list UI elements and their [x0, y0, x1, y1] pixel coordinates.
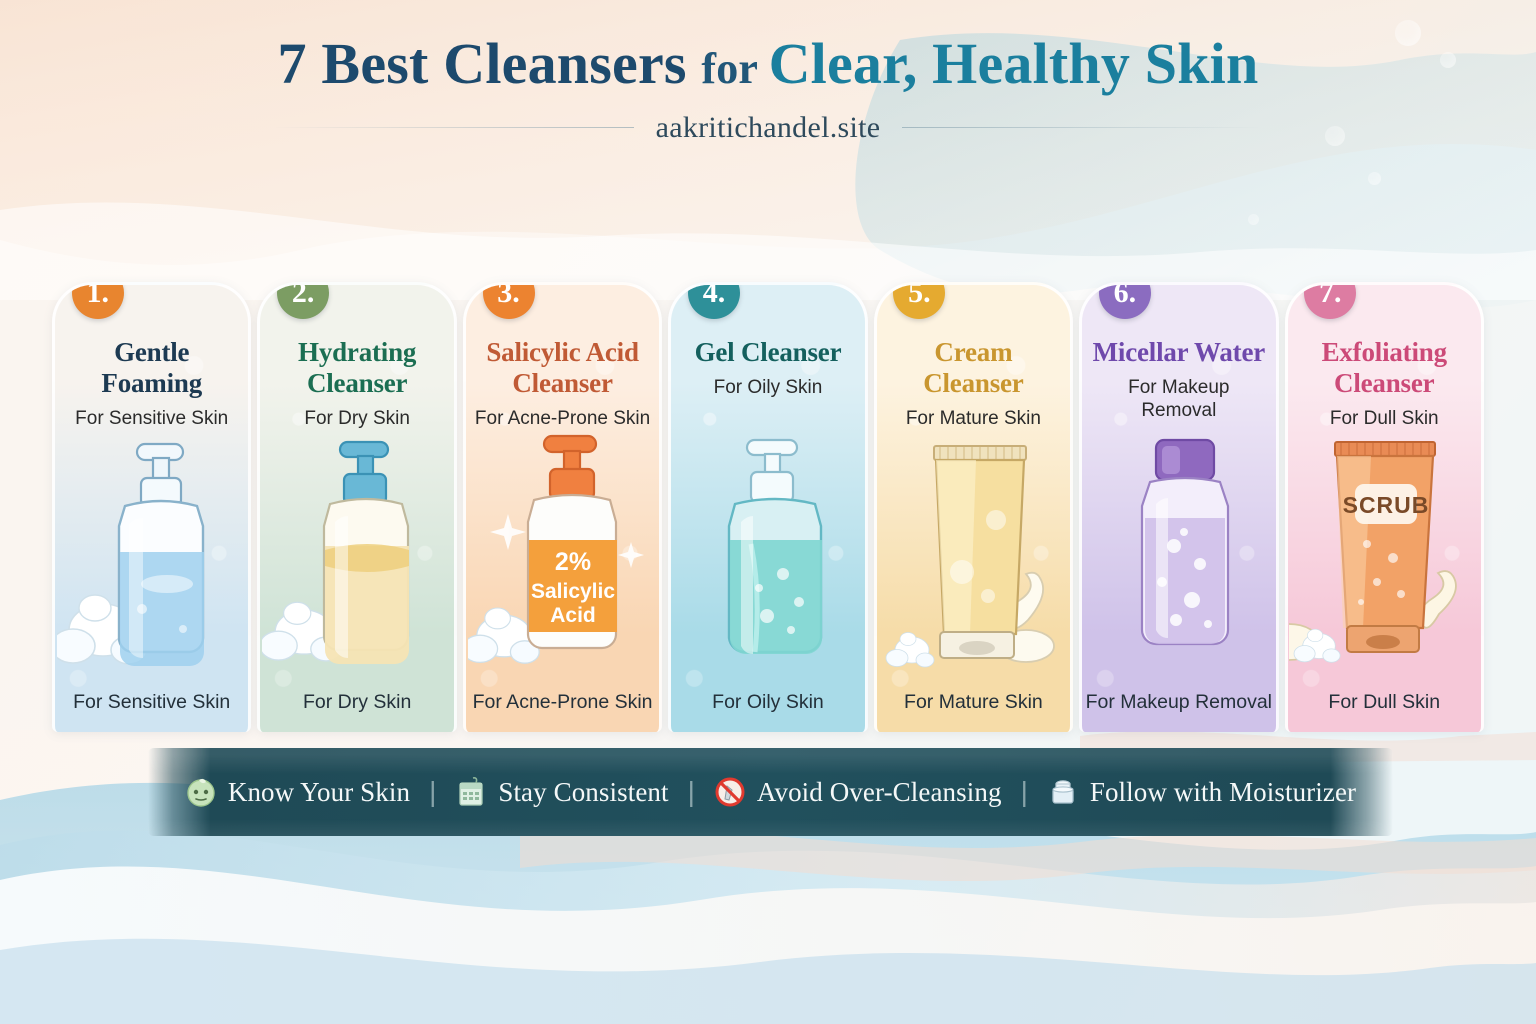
divider-left	[274, 127, 634, 128]
card-footer-label: For Makeup Removal	[1082, 691, 1275, 714]
card-subtitle: For Oily Skin	[679, 377, 856, 400]
cleanser-card-7[interactable]: 7. Exfoliating Cleanser For Dull Skin SC…	[1285, 282, 1484, 732]
tip-item-3[interactable]: Avoid Over-Cleansing	[695, 776, 1021, 808]
card-title: Gentle Foaming	[63, 337, 240, 399]
card-footer-label: For Mature Skin	[877, 691, 1070, 714]
card-number: 6.	[1114, 282, 1137, 310]
card-number: 7.	[1319, 282, 1342, 310]
title-part-dark: 7 Best Cleansers	[278, 31, 702, 96]
subtitle-row: aakritichandel.site	[0, 111, 1536, 145]
page-title: 7 Best Cleansers for Clear, Healthy Skin	[0, 34, 1536, 95]
product-illustration-pump-bottle-cream	[260, 424, 453, 674]
cleanser-card-list: 1. Gentle Foaming For Sensitive Skin For…	[52, 282, 1484, 732]
card-title: Gel Cleanser	[679, 337, 856, 368]
tip-label: Stay Consistent	[498, 777, 668, 808]
tip-label: Avoid Over-Cleansing	[757, 777, 1002, 808]
cleanser-card-4[interactable]: 4. Gel Cleanser For Oily Skin For Oily S…	[668, 282, 867, 732]
card-number: 1.	[86, 282, 109, 310]
title-part-teal: Clear, Healthy Skin	[769, 31, 1259, 96]
svg-text:SCRUB: SCRUB	[1343, 492, 1430, 518]
card-footer-label: For Acne-Prone Skin	[466, 691, 659, 714]
tips-list: Know Your Skin| Stay Consistent| Avoid O…	[148, 748, 1393, 836]
divider-right	[902, 127, 1262, 128]
product-illustration-scrub-tube: SCRUB	[1288, 424, 1481, 674]
svg-text:Acid: Acid	[550, 604, 596, 627]
card-number: 2.	[292, 282, 315, 310]
card-footer-label: For Sensitive Skin	[55, 691, 248, 714]
card-title: Salicylic Acid Cleanser	[474, 337, 651, 399]
cleanser-card-3[interactable]: 3. Salicylic Acid Cleanser For Acne-Pron…	[463, 282, 662, 732]
cleanser-card-6[interactable]: 6. Micellar Water For Makeup Removal For…	[1079, 282, 1278, 732]
decorative-bubble	[1368, 172, 1381, 185]
tip-separator: |	[1021, 776, 1028, 808]
site-url: aakritichandel.site	[656, 111, 881, 145]
cleanser-card-1[interactable]: 1. Gentle Foaming For Sensitive Skin For…	[52, 282, 251, 732]
tip-item-2[interactable]: Stay Consistent	[436, 776, 687, 808]
svg-text:Salicylic: Salicylic	[531, 580, 615, 603]
card-footer-label: For Dry Skin	[260, 691, 453, 714]
svg-text:2%: 2%	[554, 548, 590, 576]
tip-separator: |	[688, 776, 695, 808]
cleanser-card-5[interactable]: 5. Cream Cleanser For Mature Skin	[874, 282, 1073, 732]
tips-footer-bar: Know Your Skin| Stay Consistent| Avoid O…	[148, 748, 1393, 836]
title-part-for: for	[701, 44, 768, 93]
card-title: Cream Cleanser	[885, 337, 1062, 399]
tip-item-1[interactable]: Know Your Skin	[166, 776, 429, 808]
face-icon	[185, 776, 217, 808]
card-number: 3.	[497, 282, 520, 310]
tip-label: Follow with Moisturizer	[1090, 777, 1356, 808]
card-number: 4.	[703, 282, 726, 310]
header: 7 Best Cleansers for Clear, Healthy Skin…	[0, 34, 1536, 145]
cleanser-card-2[interactable]: 2. Hydrating Cleanser For Dry Skin For D…	[257, 282, 456, 732]
card-footer-label: For Dull Skin	[1288, 691, 1481, 714]
card-title: Micellar Water	[1090, 337, 1267, 368]
product-illustration-micellar-bottle	[1082, 424, 1275, 674]
product-illustration-pump-bottle-salicylic: 2% Salicylic Acid	[466, 424, 659, 674]
no-entry-icon	[714, 776, 746, 808]
tip-separator: |	[429, 776, 436, 808]
card-subtitle: For Makeup Removal	[1090, 377, 1267, 423]
tip-item-4[interactable]: Follow with Moisturizer	[1028, 776, 1375, 808]
tip-label: Know Your Skin	[228, 777, 410, 808]
card-title: Exfoliating Cleanser	[1296, 337, 1473, 399]
card-title: Hydrating Cleanser	[268, 337, 445, 399]
calendar-icon	[455, 776, 487, 808]
card-number: 5.	[908, 282, 931, 310]
product-illustration-pump-bottle-blue	[55, 424, 248, 674]
product-illustration-cream-tube	[877, 424, 1070, 674]
moisturizer-jar-icon	[1047, 776, 1079, 808]
card-footer-label: For Oily Skin	[671, 691, 864, 714]
decorative-bubble	[1248, 214, 1259, 225]
product-illustration-pump-bottle-gel	[671, 424, 864, 674]
